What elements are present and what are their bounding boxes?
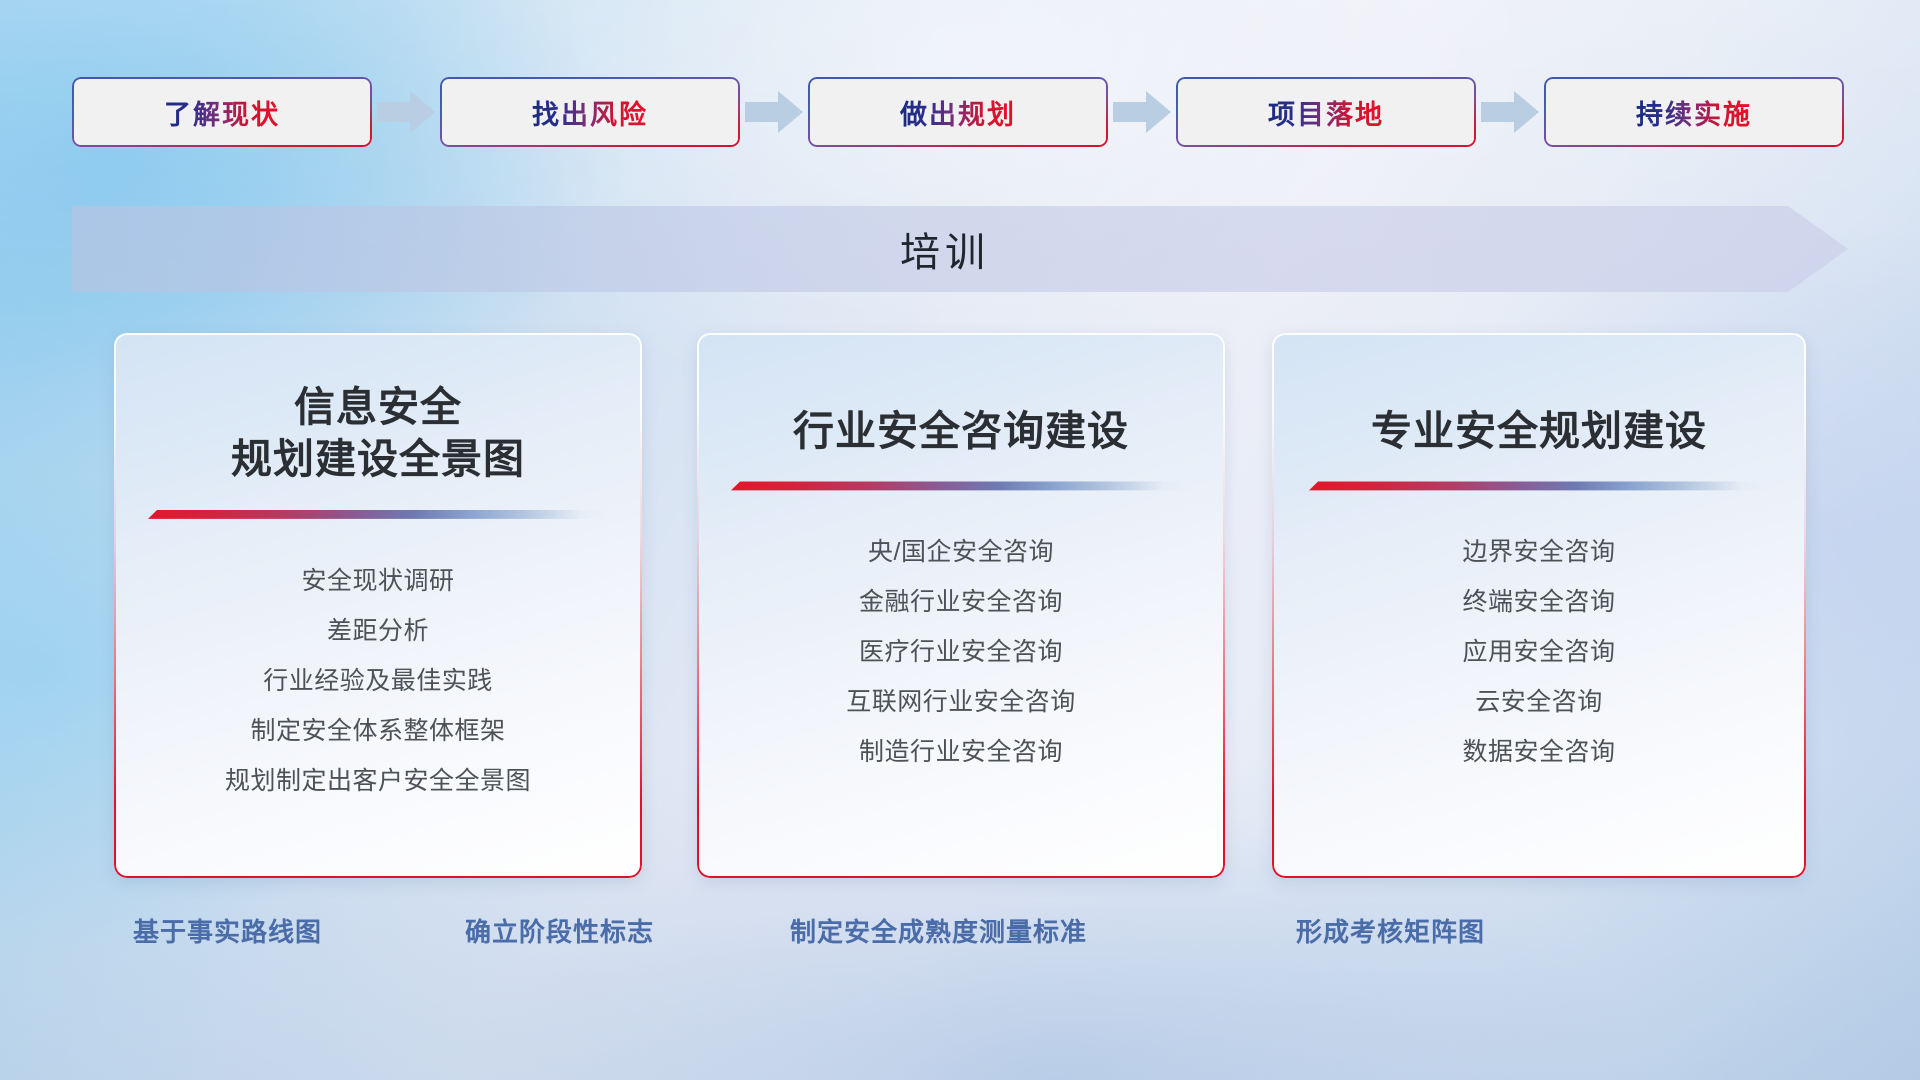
step-box-2[interactable]: 找出风险 [440, 77, 740, 147]
step-label-5: 持续实施 [1636, 93, 1752, 132]
step-arrow-icon-4 [1476, 89, 1544, 135]
list-item: 边界安全咨询 [1462, 527, 1615, 577]
step-arrow-icon-3 [1108, 89, 1176, 135]
card-title: 专业安全规划建设 [1371, 405, 1707, 457]
step-label-4: 项目落地 [1268, 93, 1384, 132]
step-box-4[interactable]: 项目落地 [1176, 77, 1476, 147]
training-band-title: 培训 [72, 206, 1848, 292]
card-row: 信息安全 规划建设全景图 安全现状调研 差距分析 行业经验及最佳实践 制定安全体… [0, 333, 1920, 878]
list-item: 央/国企安全咨询 [868, 527, 1054, 577]
step-arrow-icon-2 [740, 89, 808, 135]
card-list: 央/国企安全咨询 金融行业安全咨询 医疗行业安全咨询 互联网行业安全咨询 制造行… [697, 527, 1225, 777]
list-item: 云安全咨询 [1475, 677, 1603, 727]
card-divider [1309, 481, 1769, 493]
training-band: 培训 [72, 206, 1848, 292]
list-item: 应用安全咨询 [1462, 627, 1615, 677]
list-item: 医疗行业安全咨询 [859, 627, 1063, 677]
card-divider [731, 481, 1191, 493]
step-box-5[interactable]: 持续实施 [1544, 77, 1844, 147]
card-list: 边界安全咨询 终端安全咨询 应用安全咨询 云安全咨询 数据安全咨询 [1272, 527, 1806, 777]
list-item: 数据安全咨询 [1462, 727, 1615, 777]
caption-maturity: 制定安全成熟度测量标准 [790, 912, 1087, 949]
list-item: 行业经验及最佳实践 [263, 656, 493, 706]
list-item: 终端安全咨询 [1462, 577, 1615, 627]
slide-stage: 了解现状 找出风险 做出规划 项目落地 [0, 0, 1920, 1080]
caption-milestone: 确立阶段性标志 [465, 912, 654, 949]
process-step-row: 了解现状 找出风险 做出规划 项目落地 [72, 76, 1848, 148]
step-arrow-icon-1 [372, 89, 440, 135]
card-title: 行业安全咨询建设 [793, 405, 1129, 457]
list-item: 制造行业安全咨询 [859, 727, 1063, 777]
divider-wrap [697, 457, 1225, 493]
card-divider [148, 510, 608, 522]
caption-roadmap: 基于事实路线图 [133, 912, 322, 949]
list-item: 制定安全体系整体框架 [250, 706, 505, 756]
list-item: 安全现状调研 [301, 556, 454, 606]
card-list: 安全现状调研 差距分析 行业经验及最佳实践 制定安全体系整体框架 规划制定出客户… [114, 556, 642, 806]
card-information-security[interactable]: 信息安全 规划建设全景图 安全现状调研 差距分析 行业经验及最佳实践 制定安全体… [114, 333, 642, 878]
step-label-3: 做出规划 [900, 93, 1016, 132]
list-item: 规划制定出客户安全全景图 [225, 756, 531, 806]
divider-wrap [1272, 457, 1806, 493]
step-box-1[interactable]: 了解现状 [72, 77, 372, 147]
divider-wrap [114, 486, 642, 522]
caption-row: 基于事实路线图 确立阶段性标志 制定安全成熟度测量标准 形成考核矩阵图 [0, 912, 1920, 972]
step-label-1: 了解现状 [164, 93, 280, 132]
step-box-3[interactable]: 做出规划 [808, 77, 1108, 147]
card-professional-security-planning[interactable]: 专业安全规划建设 边界安全咨询 终端安全咨询 应用安全咨询 云安全咨询 数据安全… [1272, 333, 1806, 878]
caption-matrix: 形成考核矩阵图 [1296, 912, 1485, 949]
step-label-2: 找出风险 [532, 93, 648, 132]
card-industry-security-consulting[interactable]: 行业安全咨询建设 央/国企安全咨询 金融行业安全咨询 医疗行业安全咨询 互联网行… [697, 333, 1225, 878]
list-item: 互联网行业安全咨询 [846, 677, 1076, 727]
list-item: 差距分析 [327, 606, 429, 656]
card-title: 信息安全 规划建设全景图 [231, 381, 525, 486]
list-item: 金融行业安全咨询 [859, 577, 1063, 627]
